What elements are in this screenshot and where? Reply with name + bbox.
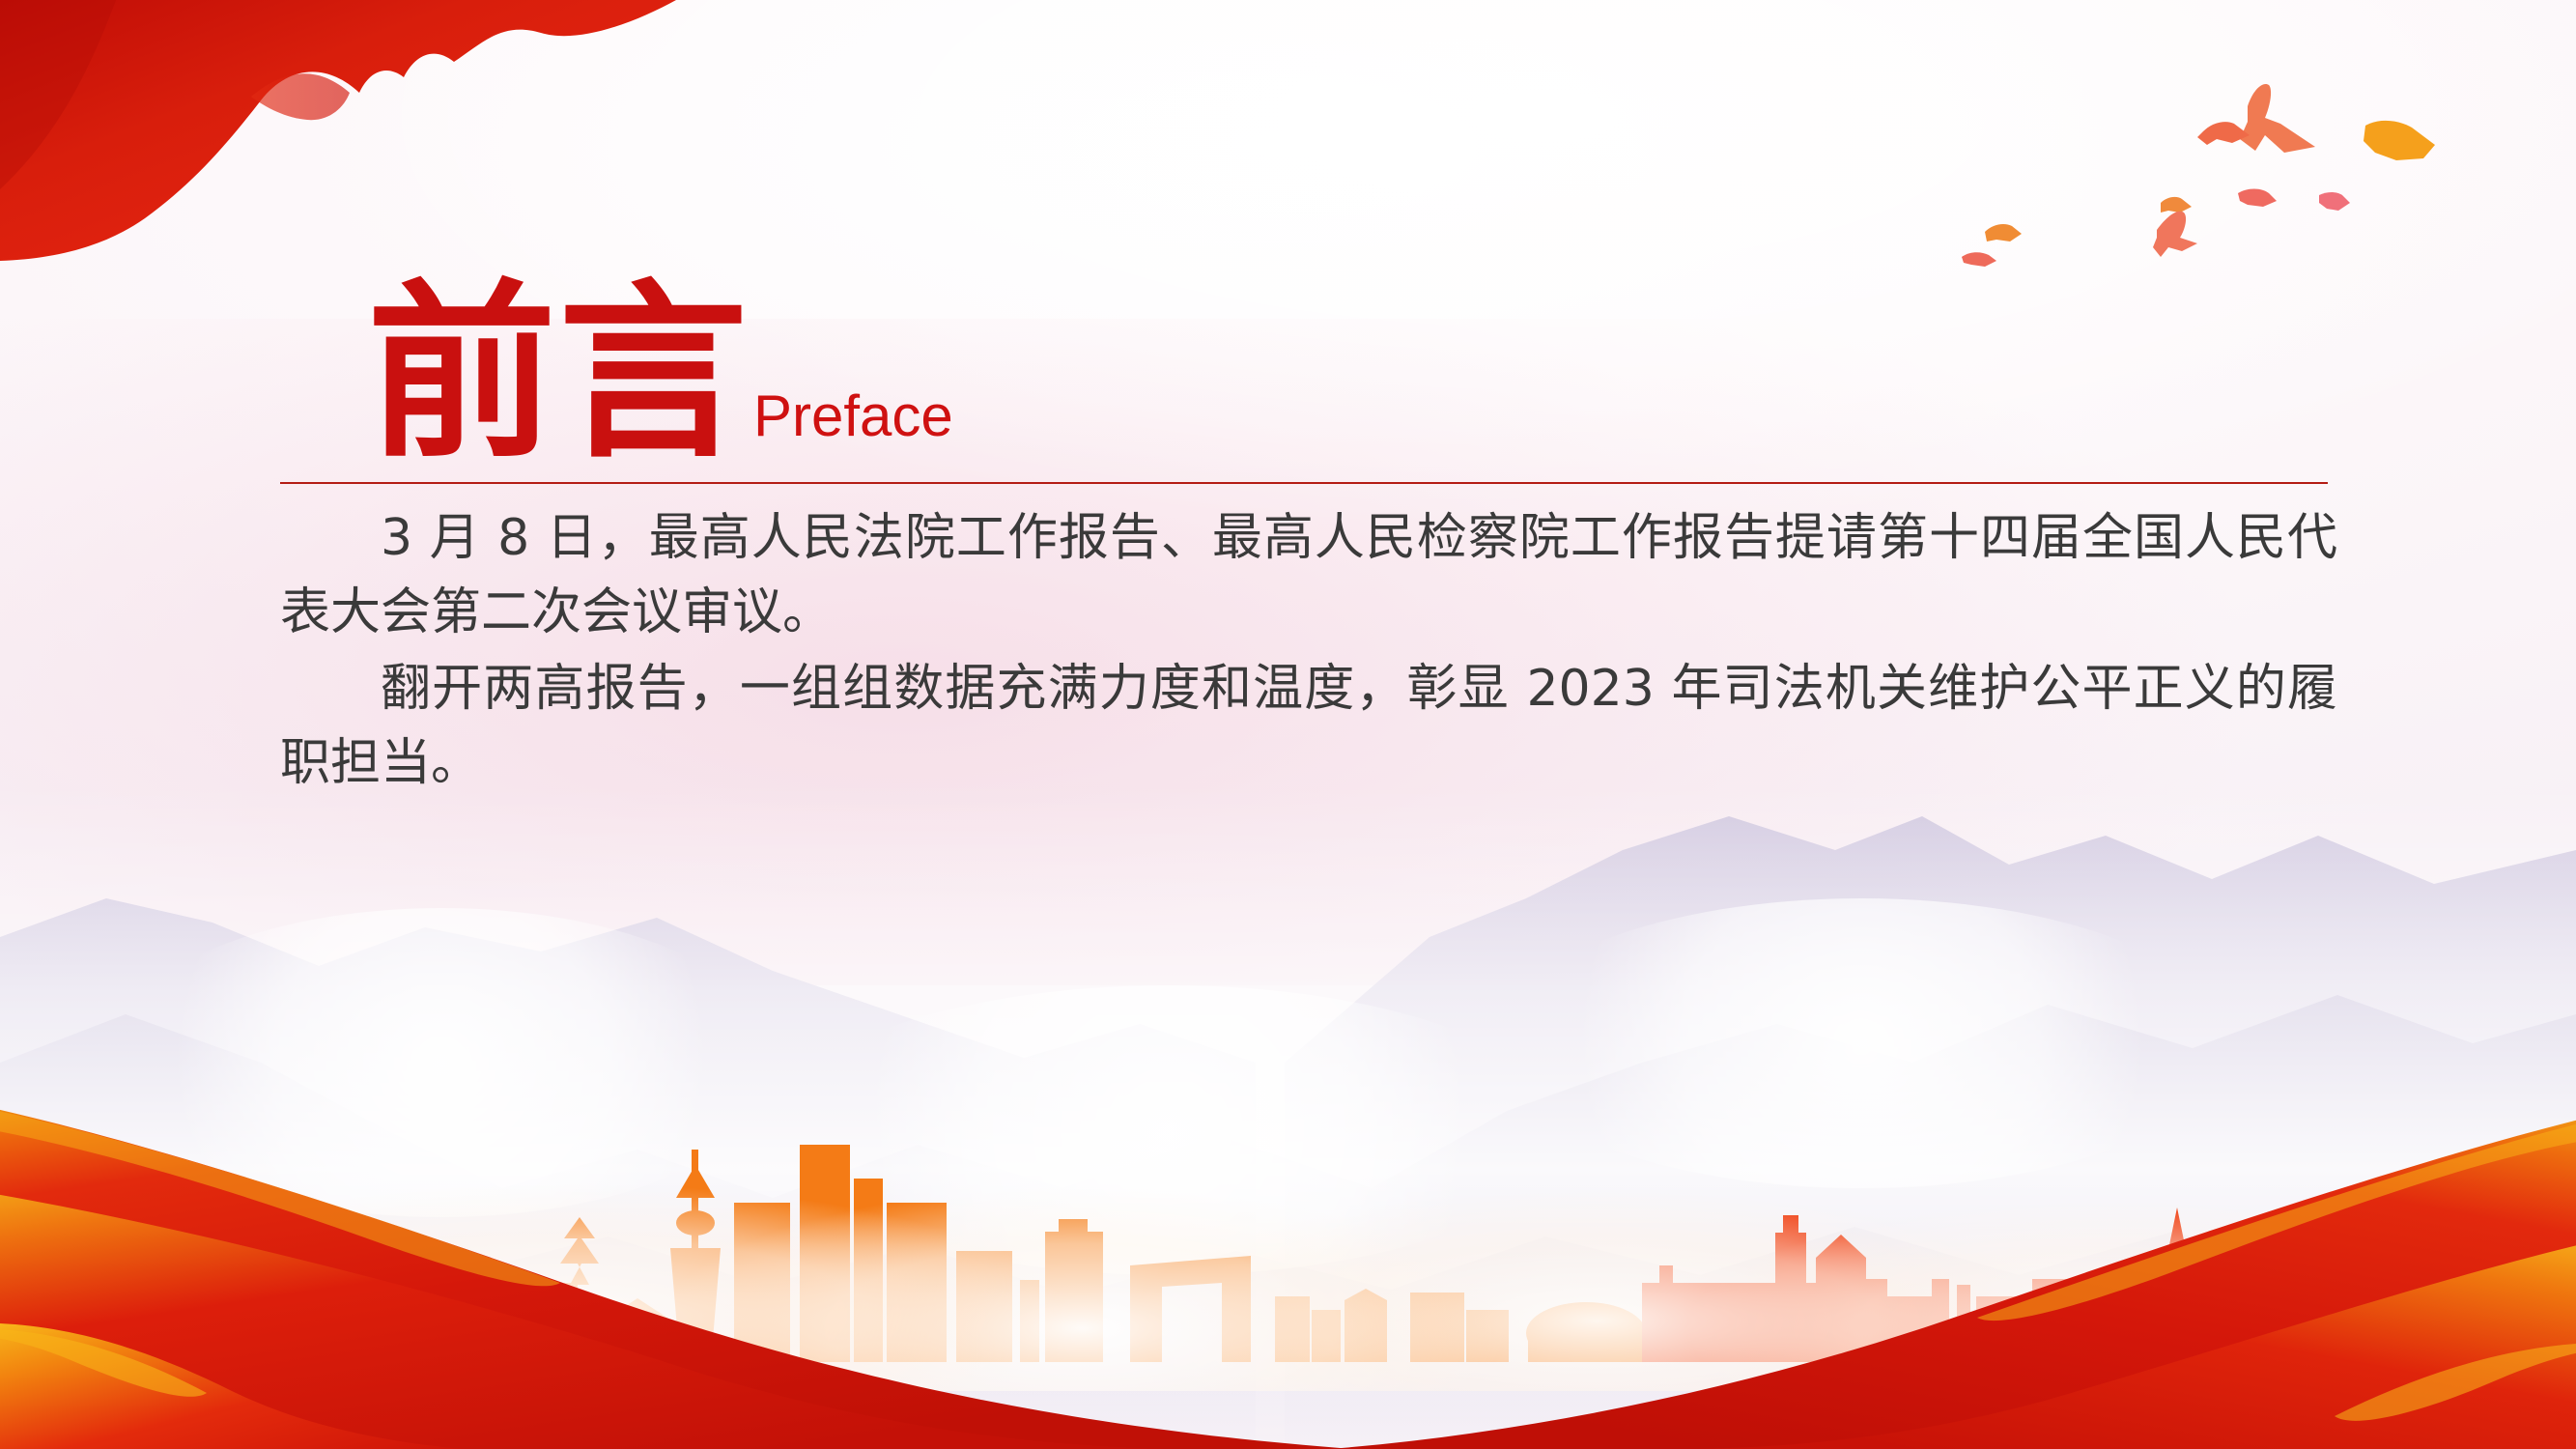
bottom-right-red-ribbon: [1214, 1043, 2576, 1449]
paragraph-2: 翻开两高报告，一组组数据充满力度和温度，彰显 2023 年司法机关维护公平正义的…: [280, 652, 2337, 801]
page-title: 前言: [367, 279, 750, 469]
title-block: 前言 Preface: [367, 261, 2328, 469]
slide-content: 前言 Preface 3 月 8 日，最高人民法院工作报告、最高人民检察院工作报…: [280, 261, 2328, 803]
paragraph-1: 3 月 8 日，最高人民法院工作报告、最高人民检察院工作报告提请第十四届全国人民…: [280, 501, 2337, 650]
slide-canvas: 前言 Preface 3 月 8 日，最高人民法院工作报告、最高人民检察院工作报…: [0, 0, 2576, 1449]
body-text-block: 3 月 8 日，最高人民法院工作报告、最高人民检察院工作报告提请第十四届全国人民…: [280, 501, 2337, 801]
top-left-red-ribbon: [0, 0, 676, 261]
page-subtitle-english: Preface: [753, 387, 953, 445]
flying-birds-icon: [1929, 68, 2470, 290]
